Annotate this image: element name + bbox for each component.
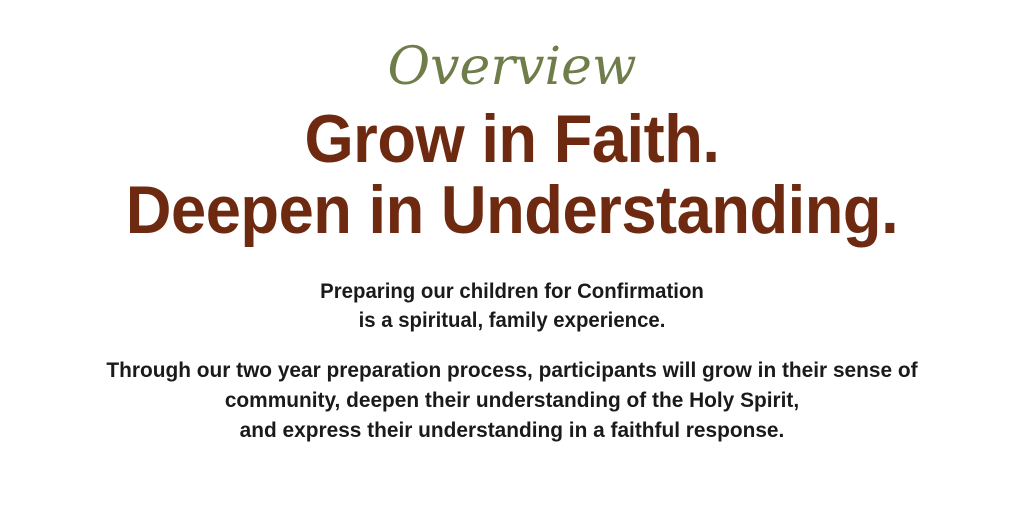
eyebrow-label: Overview xyxy=(388,37,637,97)
page-title: Grow in Faith. Deepen in Understanding. xyxy=(0,106,1024,243)
detail-paragraph: Through our two year preparation process… xyxy=(15,355,1008,445)
lede-line-2: is a spiritual, family experience. xyxy=(15,306,1008,335)
overview-script-svg: Overview xyxy=(397,34,627,104)
detail-line-3: and express their understanding in a fai… xyxy=(15,415,1008,445)
lede-paragraph: Preparing our children for Confirmation … xyxy=(15,277,1008,335)
eyebrow-script-heading: Overview xyxy=(0,34,1024,104)
overview-slide: Overview Grow in Faith. Deepen in Unders… xyxy=(0,0,1024,512)
headline-line-2: Deepen in Understanding. xyxy=(36,177,988,244)
lede-line-1: Preparing our children for Confirmation xyxy=(15,277,1008,306)
detail-line-2: community, deepen their understanding of… xyxy=(15,385,1008,415)
detail-line-1: Through our two year preparation process… xyxy=(15,355,1008,385)
headline-line-1: Grow in Faith. xyxy=(36,106,988,173)
